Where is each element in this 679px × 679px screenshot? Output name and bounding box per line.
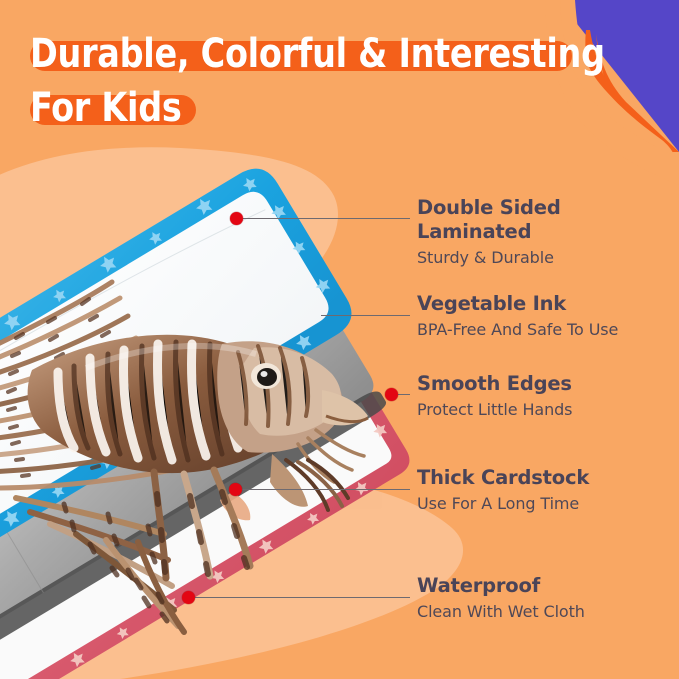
callout-dot-thick-cardstock	[229, 483, 242, 496]
feature-subtitle: Protect Little Hands	[417, 398, 673, 421]
feature-subtitle: Sturdy & Durable	[417, 246, 673, 269]
feature-title-line-1: Double Sided	[417, 196, 673, 220]
callout-dot-waterproof	[182, 591, 195, 604]
feature-double-sided-laminated: Double Sided Laminated Sturdy & Durable	[417, 196, 673, 269]
feature-subtitle: Use For A Long Time	[417, 492, 673, 515]
title-line-1: Durable, Colorful & Interesting	[30, 28, 630, 80]
feature-thick-cardstock: Thick Cardstock Use For A Long Time	[417, 466, 673, 515]
leader-line-double-sided-laminated	[242, 218, 410, 219]
callout-dot-double-sided-laminated	[230, 212, 243, 225]
leader-line-thick-cardstock	[241, 489, 410, 490]
feature-title-line-1: Vegetable Ink	[417, 292, 673, 316]
leader-line-waterproof	[194, 597, 410, 598]
callout-dot-smooth-edges	[385, 388, 398, 401]
feature-subtitle: BPA-Free And Safe To Use	[417, 318, 673, 341]
feature-waterproof: Waterproof Clean With Wet Cloth	[417, 574, 673, 623]
page-title: Durable, Colorful & Interesting For Kids	[30, 28, 630, 136]
feature-title-line-1: Thick Cardstock	[417, 466, 673, 490]
feature-title-line-2: Laminated	[417, 220, 673, 244]
feature-title-line-1: Smooth Edges	[417, 372, 673, 396]
feature-vegetable-ink: Vegetable Ink BPA-Free And Safe To Use	[417, 292, 673, 341]
title-text-1: Durable, Colorful & Interesting	[30, 28, 588, 80]
title-text-2: For Kids	[30, 82, 588, 134]
leader-line-vegetable-ink	[321, 315, 410, 316]
feature-subtitle: Clean With Wet Cloth	[417, 600, 673, 623]
feature-title-line-1: Waterproof	[417, 574, 673, 598]
feature-smooth-edges: Smooth Edges Protect Little Hands	[417, 372, 673, 421]
title-line-2: For Kids	[30, 82, 630, 134]
leader-line-smooth-edges	[397, 394, 410, 395]
infographic-canvas: Durable, Colorful & Interesting For Kids…	[0, 0, 679, 679]
